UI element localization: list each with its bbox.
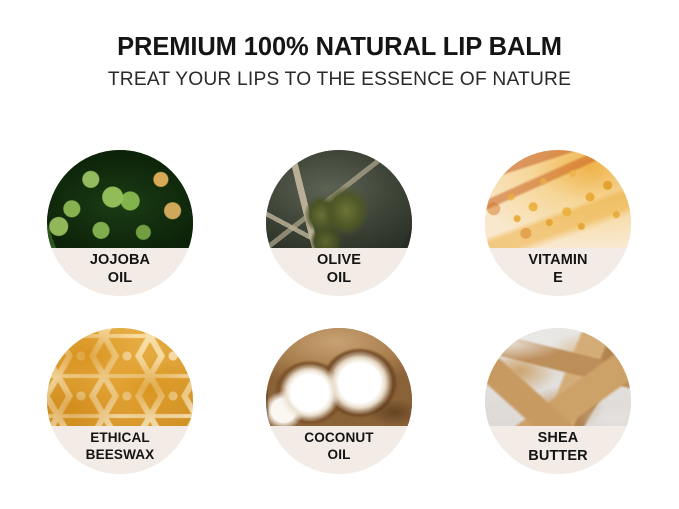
- ingredient-label-line-2: E: [553, 270, 563, 288]
- ingredient-label-line-1: VITAMIN: [528, 252, 587, 270]
- honeycomb-photo: [47, 328, 193, 426]
- ingredient-label-line-1: ETHICAL: [90, 430, 150, 447]
- ingredient-label-shea-butter: SHEA BUTTER: [485, 426, 631, 474]
- ingredient-label-line-2: BUTTER: [528, 448, 587, 466]
- jojoba-plant-photo: [47, 150, 193, 248]
- ingredient-badge-vitamin-e: VITAMIN E: [485, 150, 631, 296]
- ingredient-badge-shea-butter: SHEA BUTTER: [485, 328, 631, 474]
- coconut-photo-frame: [266, 328, 412, 426]
- ingredient-badge-ethical-beeswax: ETHICAL BEESWAX: [47, 328, 193, 474]
- ingredient-label-line-2: OIL: [328, 447, 351, 464]
- ingredient-label-coconut-oil: COCONUT OIL: [266, 426, 412, 474]
- ingredient-label-olive-oil: OLIVE OIL: [266, 248, 412, 296]
- olive-branch-photo: [266, 150, 412, 248]
- ingredient-label-line-1: COCONUT: [304, 430, 373, 447]
- ingredient-label-line-2: OIL: [108, 270, 132, 288]
- olive-photo-frame: [266, 150, 412, 248]
- ingredient-label-line-1: JOJOBA: [90, 252, 150, 270]
- ingredient-label-ethical-beeswax: ETHICAL BEESWAX: [47, 426, 193, 474]
- ingredient-badge-coconut-oil: COCONUT OIL: [266, 328, 412, 474]
- coconut-halves-photo: [266, 328, 412, 426]
- ingredient-badge-olive-oil: OLIVE OIL: [266, 150, 412, 296]
- ingredient-label-line-1: OLIVE: [317, 252, 361, 270]
- vitamin-e-photo-frame: [485, 150, 631, 248]
- header: PREMIUM 100% NATURAL LIP BALM TREAT YOUR…: [0, 34, 679, 90]
- page-title: PREMIUM 100% NATURAL LIP BALM: [0, 34, 679, 62]
- ingredient-label-line-2: BEESWAX: [86, 447, 155, 464]
- shea-photo-frame: [485, 328, 631, 426]
- ingredient-label-vitamin-e: VITAMIN E: [485, 248, 631, 296]
- ingredient-label-jojoba-oil: JOJOBA OIL: [47, 248, 193, 296]
- vitamin-e-oil-photo: [485, 150, 631, 248]
- ingredient-label-line-2: OIL: [327, 270, 351, 288]
- shea-butter-chunks-photo: [485, 328, 631, 426]
- jojoba-photo-frame: [47, 150, 193, 248]
- ingredient-badge-jojoba-oil: JOJOBA OIL: [47, 150, 193, 296]
- page-subtitle: TREAT YOUR LIPS TO THE ESSENCE OF NATURE: [5, 69, 674, 90]
- ingredient-label-line-1: SHEA: [538, 430, 579, 448]
- product-infographic: PREMIUM 100% NATURAL LIP BALM TREAT YOUR…: [0, 0, 679, 509]
- ingredient-grid: JOJOBA OIL OLIVE OIL VITAMIN E: [47, 150, 632, 474]
- beeswax-photo-frame: [47, 328, 193, 426]
